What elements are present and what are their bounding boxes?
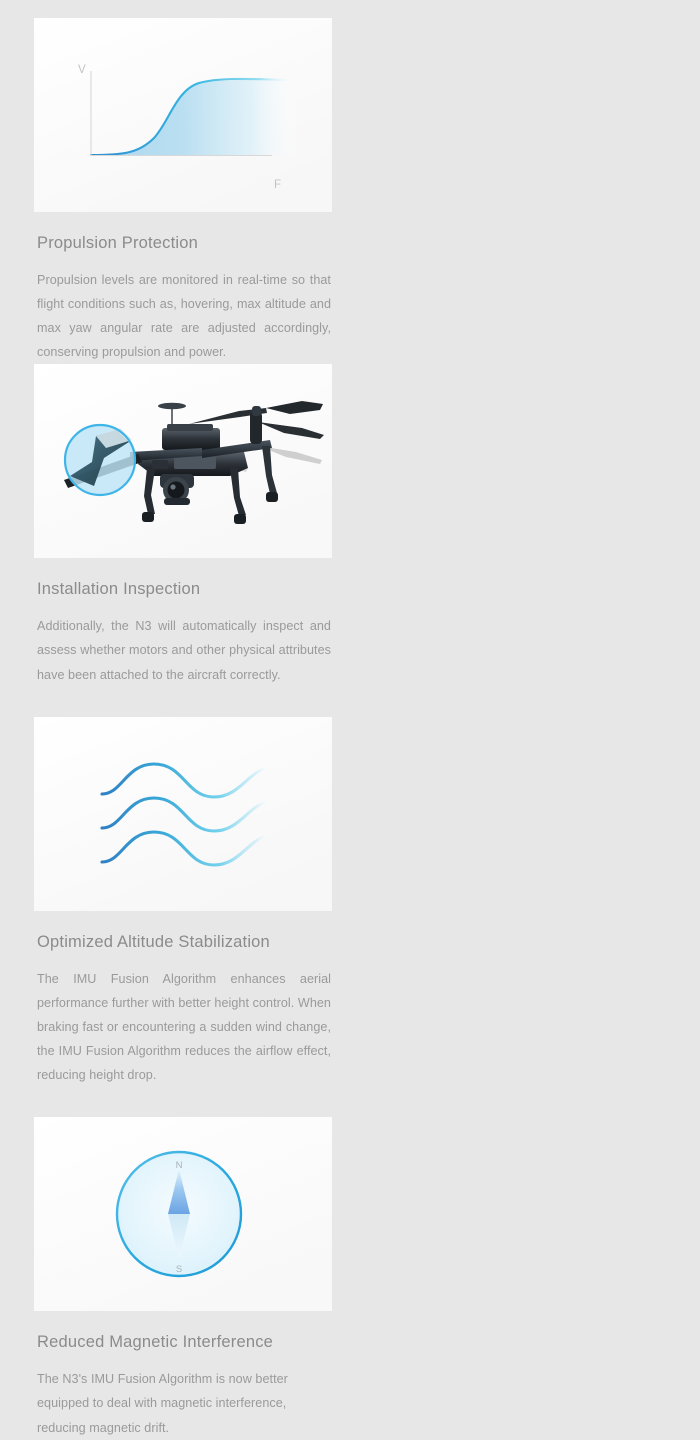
feature-body: Propulsion levels are monitored in real-… <box>37 268 332 365</box>
magnifier-circle <box>65 425 135 495</box>
features-grid: V F Propulsion Protection Propulsion lev… <box>0 0 700 1440</box>
feature-body: Additionally, the N3 will automatically … <box>37 614 332 687</box>
illustration-drone-with-magnifier <box>34 364 332 558</box>
feature-card-optimized-altitude-stabilization: Optimized Altitude Stabilization The IMU… <box>34 717 332 1088</box>
feature-body: The IMU Fusion Algorithm enhances aerial… <box>37 967 332 1088</box>
feature-title: Propulsion Protection <box>37 234 332 254</box>
chart-y-axis-label: V <box>78 64 86 76</box>
compass-south-label: S <box>176 1264 182 1275</box>
compass-north-label: N <box>176 1160 183 1171</box>
feature-title: Installation Inspection <box>37 580 332 600</box>
drone-gimbal-camera <box>160 474 194 505</box>
illustration-compass: N S <box>34 1117 332 1311</box>
feature-body: The N3's IMU Fusion Algorithm is now bet… <box>37 1367 332 1440</box>
feature-grid-page: V F Propulsion Protection Propulsion lev… <box>0 0 700 876</box>
illustration-airflow-waves <box>34 717 332 911</box>
feature-card-propulsion-protection: V F Propulsion Protection Propulsion lev… <box>34 18 332 364</box>
feature-card-installation-inspection: Installation Inspection Additionally, th… <box>34 364 332 686</box>
feature-title: Reduced Magnetic Interference <box>37 1333 332 1353</box>
feature-title: Optimized Altitude Stabilization <box>37 933 332 953</box>
illustration-velocity-force-curve: V F <box>34 18 332 212</box>
chart-x-axis-label: F <box>274 179 281 191</box>
feature-card-reduced-magnetic-interference: N S Reduced Magnetic Interference The N3… <box>34 1117 332 1439</box>
